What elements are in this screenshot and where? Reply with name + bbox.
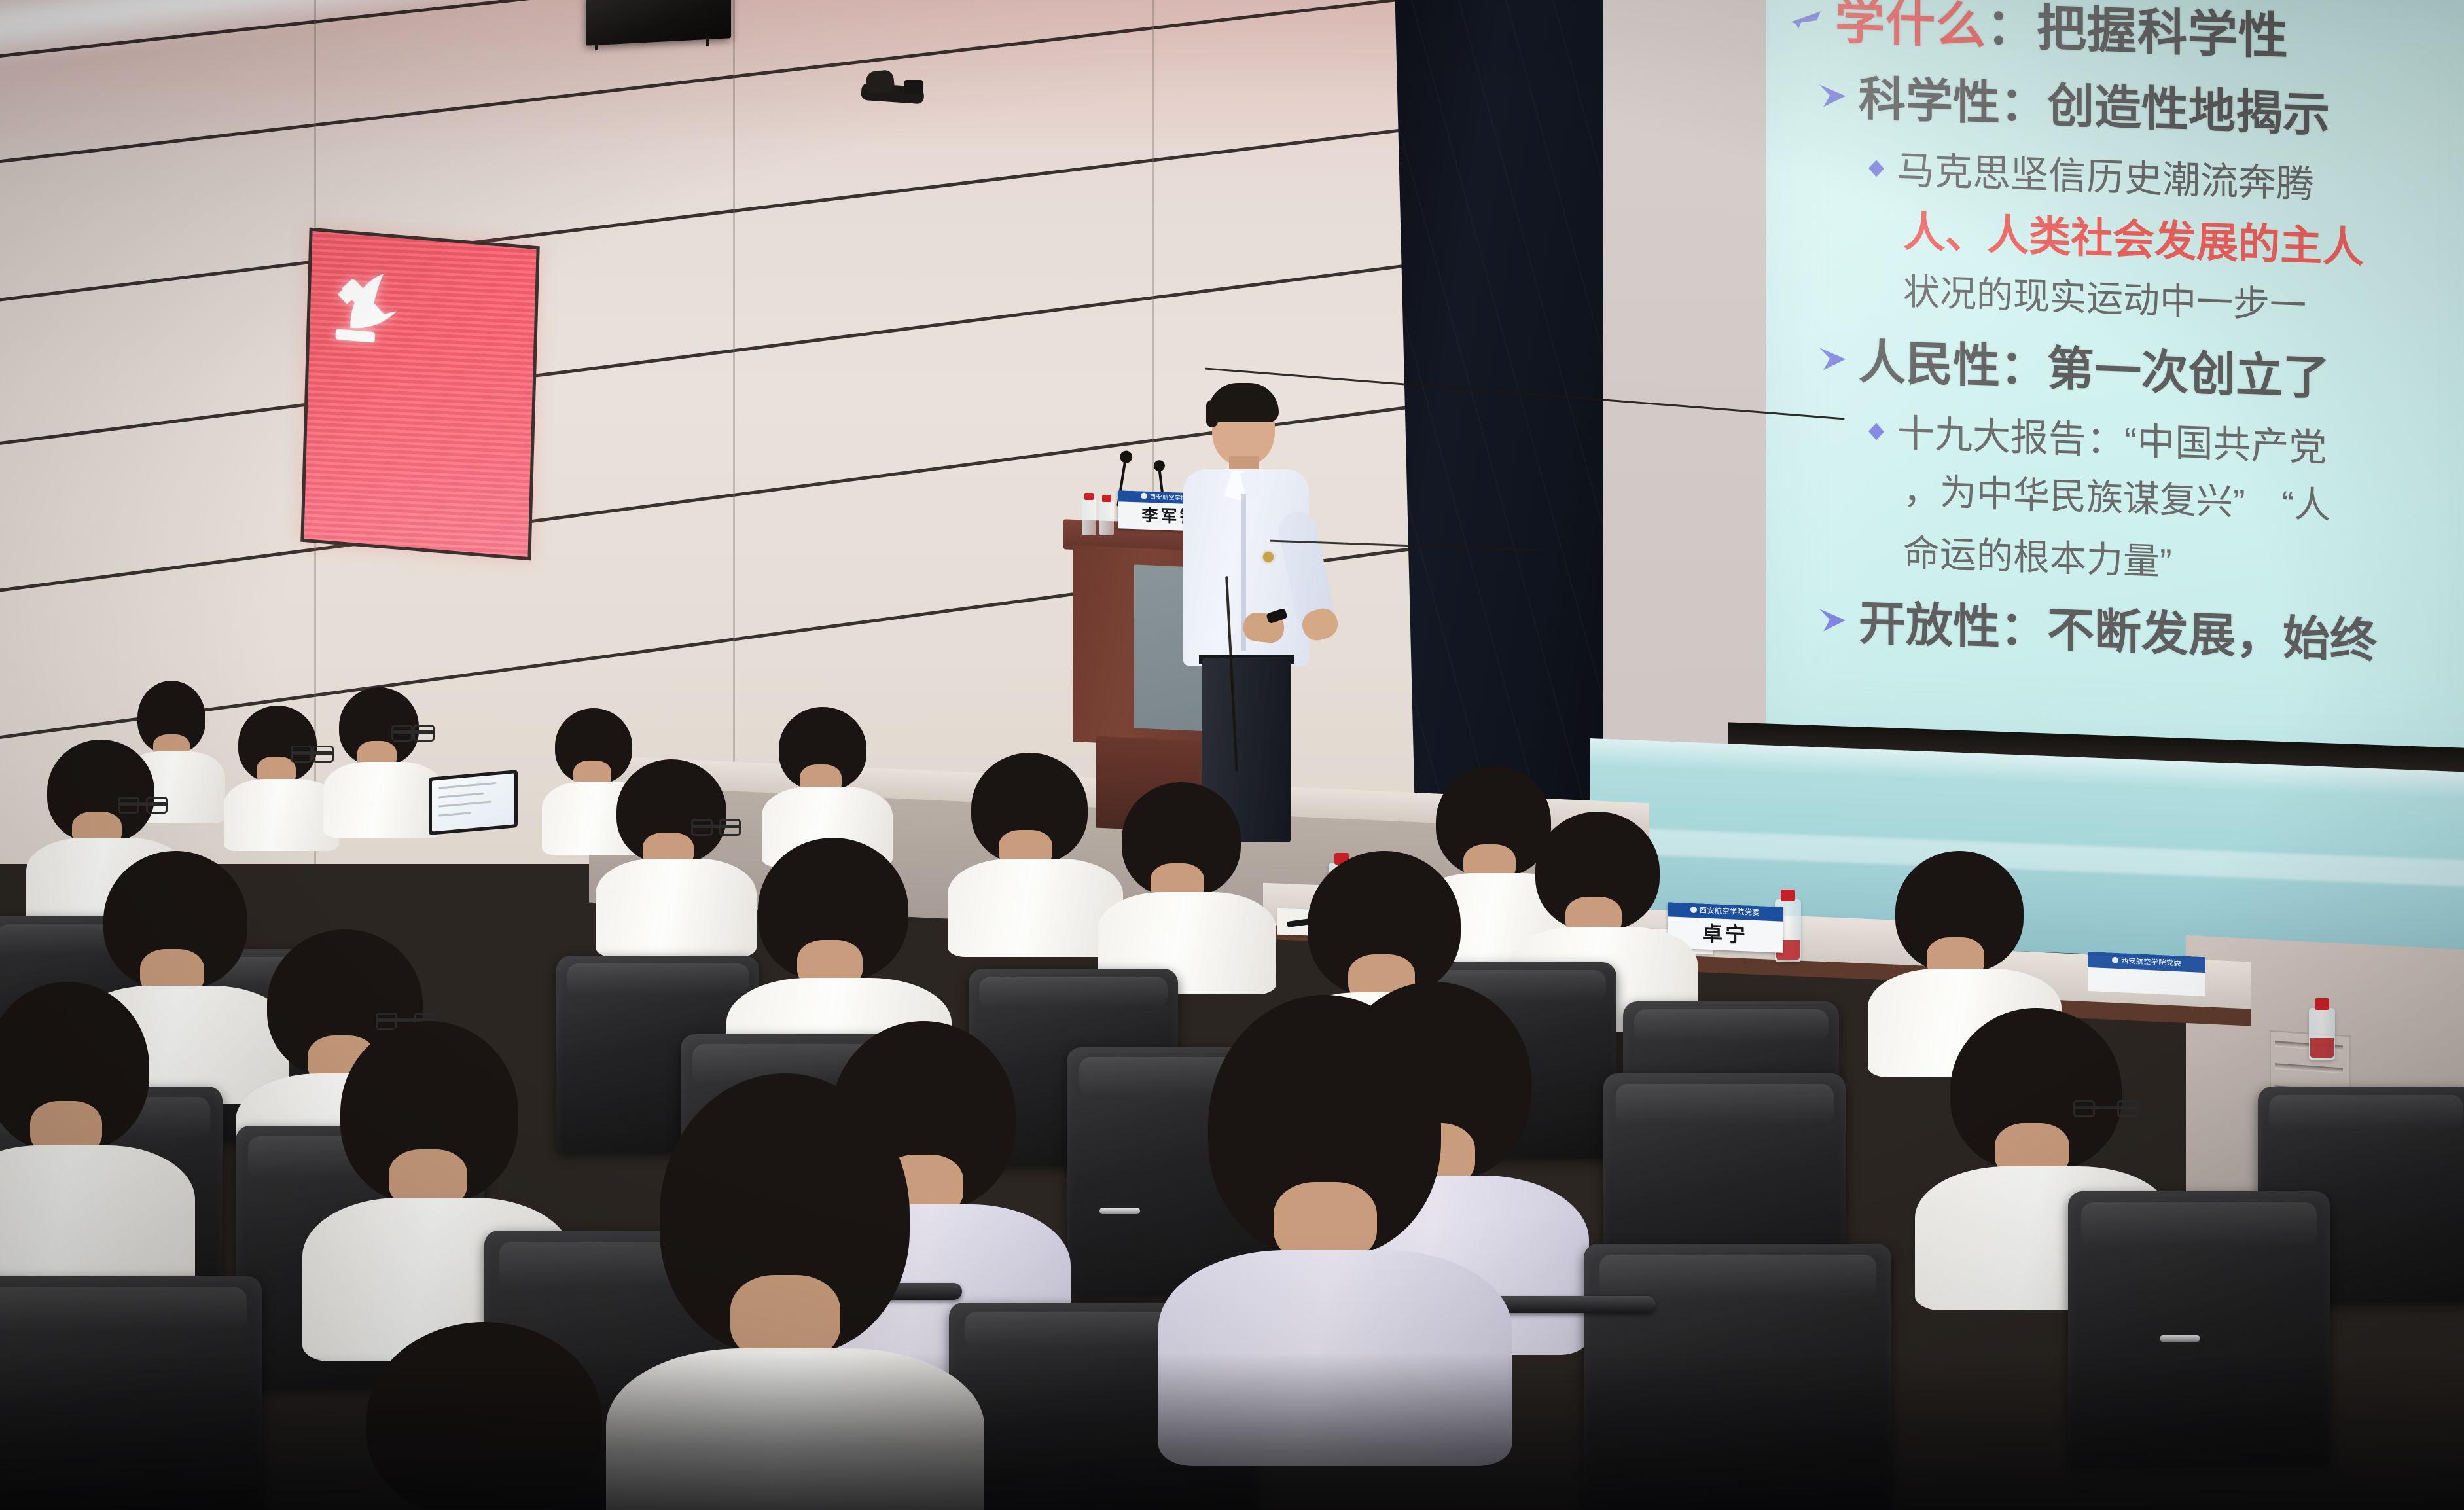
eyeglasses-icon bbox=[391, 730, 435, 734]
camera-mount-icon bbox=[904, 80, 923, 94]
eyeglasses-icon bbox=[691, 825, 741, 828]
party-emblem-pin-icon bbox=[1263, 552, 1274, 562]
arrow-icon bbox=[1817, 591, 1848, 646]
auditorium-seat[interactable] bbox=[0, 1276, 262, 1510]
auditorium-seat[interactable] bbox=[2068, 1191, 2330, 1466]
university-logo-icon bbox=[2112, 957, 2118, 963]
water-bottle bbox=[2309, 1008, 2335, 1060]
audience-member bbox=[1113, 782, 1260, 972]
audience-shirt bbox=[323, 762, 444, 838]
slide-line-2: 科学性：创造性地揭示 bbox=[1817, 58, 2464, 151]
laptop[interactable] bbox=[429, 770, 518, 835]
slide-line-6: 人民性：第一次创立了 bbox=[1817, 321, 2464, 414]
audience-member bbox=[0, 982, 170, 1257]
nameplate-org-text: 西安航空学院党委 bbox=[1700, 907, 1760, 917]
slide-line-9: 命运的根本力量” bbox=[1903, 524, 2464, 598]
eyeglasses-icon bbox=[2073, 1106, 2139, 1109]
slide-line-10: 开放性：不断发展，始终 bbox=[1817, 583, 2464, 675]
audience-shirt bbox=[606, 1348, 984, 1510]
led-screen-surface bbox=[304, 231, 536, 557]
slide-line-1-rest: 把握科学性 bbox=[2037, 0, 2289, 68]
university-logo-icon bbox=[1141, 492, 1147, 499]
presentation-slide: 学什么：把握科学性 科学性：创造性地揭示 马克思坚信历史潮流奔腾 人、人类社会发… bbox=[1766, 0, 2464, 759]
audience-member bbox=[1191, 995, 1473, 1414]
auditorium-seat[interactable] bbox=[1584, 1244, 1891, 1510]
audience-member bbox=[962, 753, 1106, 936]
arrow-icon bbox=[1817, 67, 1848, 122]
audience-shirt bbox=[596, 859, 757, 957]
diamond-icon bbox=[1866, 143, 1886, 188]
laptop-lid bbox=[429, 770, 518, 835]
auditorium-scene: 学什么：把握科学性 科学性：创造性地揭示 马克思坚信历史潮流奔腾 人、人类社会发… bbox=[0, 0, 2464, 1510]
eyeglasses-icon bbox=[291, 751, 334, 755]
ceiling-speaker bbox=[586, 0, 731, 46]
eyeglasses-icon bbox=[118, 802, 168, 806]
presenter-hair bbox=[1208, 383, 1279, 422]
seat-hardware bbox=[2160, 1335, 2200, 1342]
audience-nameplate: 西安航空学院党委 bbox=[2088, 952, 2205, 996]
hammer-and-sickle-emblem bbox=[332, 257, 424, 363]
audience-member bbox=[332, 687, 431, 818]
audience-member bbox=[230, 706, 329, 830]
audience-shirt bbox=[224, 779, 339, 851]
presenter bbox=[1171, 383, 1342, 841]
slide-line-1-highlight: 学什么 bbox=[1835, 0, 1986, 58]
seat-armrest[interactable] bbox=[1492, 1296, 1656, 1313]
water-bottle bbox=[1099, 501, 1114, 535]
airplane-icon bbox=[1788, 0, 1825, 46]
slide-line-7-text: 十九大报告：“中国共产党 bbox=[1897, 402, 2327, 472]
slide-line-2-text: 科学性：创造性地揭示 bbox=[1859, 60, 2330, 145]
slide-line-6-text: 人民性：第一次创立了 bbox=[1859, 323, 2330, 408]
ptz-camera bbox=[861, 69, 924, 107]
audience-head bbox=[366, 1322, 602, 1510]
water-bottle bbox=[1082, 499, 1096, 535]
audience-member bbox=[772, 707, 880, 844]
led-flag-display bbox=[300, 228, 539, 561]
audience-shirt bbox=[0, 1145, 195, 1296]
seat-hardware bbox=[1099, 1208, 1140, 1214]
slide-line-10-text: 开放性：不断发展，始终 bbox=[1859, 584, 2377, 671]
diamond-icon bbox=[1866, 406, 1886, 451]
arrow-icon bbox=[1817, 330, 1848, 385]
slide-line-3-text: 马克思坚信历史潮流奔腾 bbox=[1897, 139, 2314, 208]
camera-lens-icon bbox=[865, 69, 895, 94]
audience-member bbox=[353, 1322, 628, 1510]
audience-shirt bbox=[948, 859, 1123, 957]
audience-member bbox=[641, 1073, 942, 1510]
nameplate-org-text: 西安航空学院党委 bbox=[2121, 957, 2181, 967]
laptop-screen[interactable] bbox=[432, 773, 514, 831]
slide-line-1-sep: ： bbox=[1986, 0, 2037, 60]
audience-member bbox=[609, 759, 740, 929]
university-logo-icon bbox=[1690, 907, 1697, 913]
audience-shirt bbox=[1158, 1250, 1512, 1466]
wall-panel-seam-vertical bbox=[733, 0, 735, 864]
projection-screen: 学什么：把握科学性 科学性：创造性地揭示 马克思坚信历史潮流奔腾 人、人类社会发… bbox=[1766, 0, 2464, 759]
